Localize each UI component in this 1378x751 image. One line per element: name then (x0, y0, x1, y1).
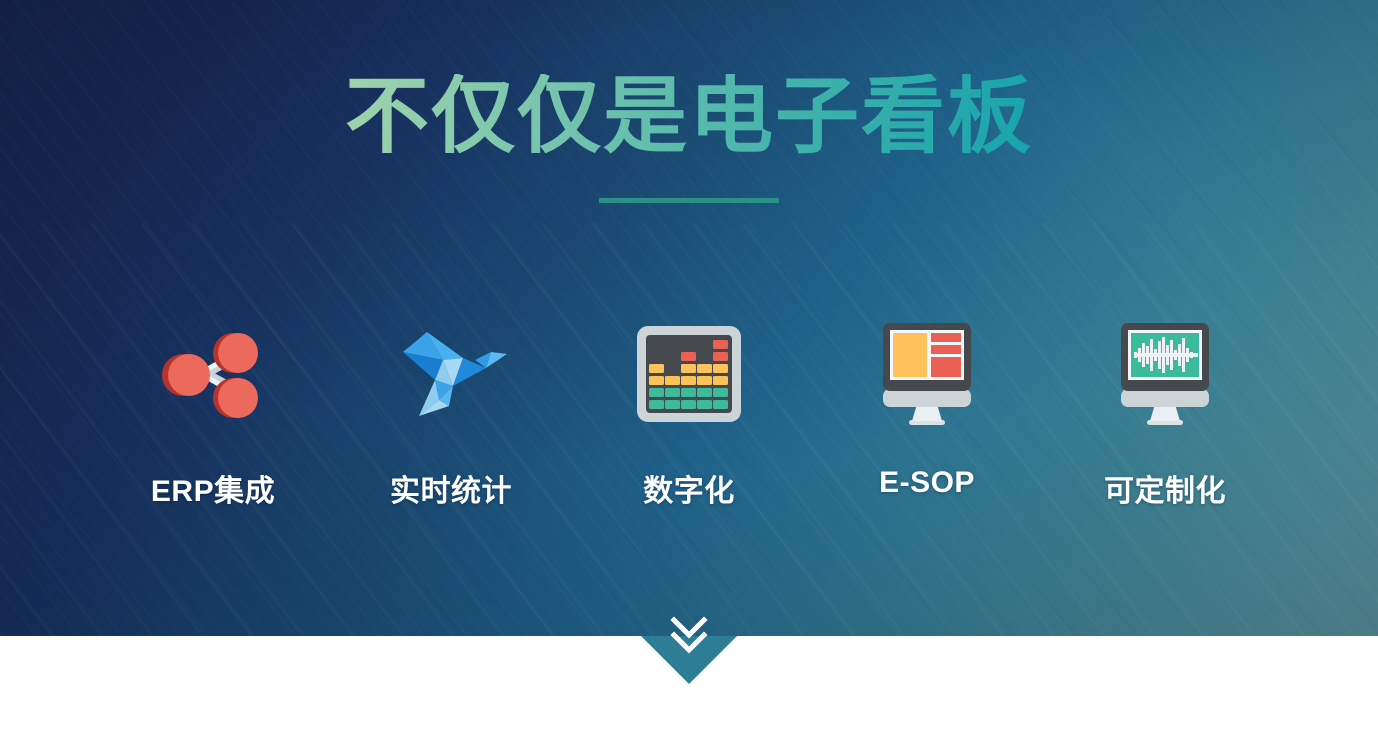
feature-item-erp[interactable]: ERP集成 (94, 310, 332, 510)
feature-icon-wrap (1113, 310, 1217, 438)
feature-icon-wrap (161, 310, 265, 438)
feature-icon-wrap (391, 310, 511, 438)
feature-item-digitization[interactable]: 数字化 (570, 310, 808, 510)
feature-icon-wrap (637, 310, 741, 438)
feature-label: E-SOP (879, 466, 975, 500)
feature-item-customizable[interactable]: 可定制化 (1046, 310, 1284, 510)
feature-list: ERP集成 (0, 310, 1378, 510)
monitor-waveform-icon (1113, 319, 1217, 429)
page-root: 不仅仅是电子看板 (0, 0, 1378, 751)
title-divider (599, 198, 779, 203)
double-chevron-down-icon (662, 606, 716, 660)
feature-icon-wrap (875, 310, 979, 438)
equalizer-board-icon (637, 326, 741, 422)
feature-item-realtime-stats[interactable]: 实时统计 (332, 310, 570, 510)
hero-banner: 不仅仅是电子看板 (0, 0, 1378, 636)
feature-item-esop[interactable]: E-SOP (808, 310, 1046, 500)
share-nodes-icon (161, 322, 265, 426)
page-title: 不仅仅是电子看板 (0, 74, 1378, 158)
feature-label: ERP集成 (151, 466, 275, 510)
feature-label: 可定制化 (1104, 466, 1226, 510)
origami-bird-icon (391, 324, 511, 424)
monitor-layout-icon (875, 319, 979, 429)
feature-label: 数字化 (643, 466, 735, 510)
scroll-down-button[interactable] (662, 606, 716, 660)
feature-label: 实时统计 (390, 466, 512, 510)
